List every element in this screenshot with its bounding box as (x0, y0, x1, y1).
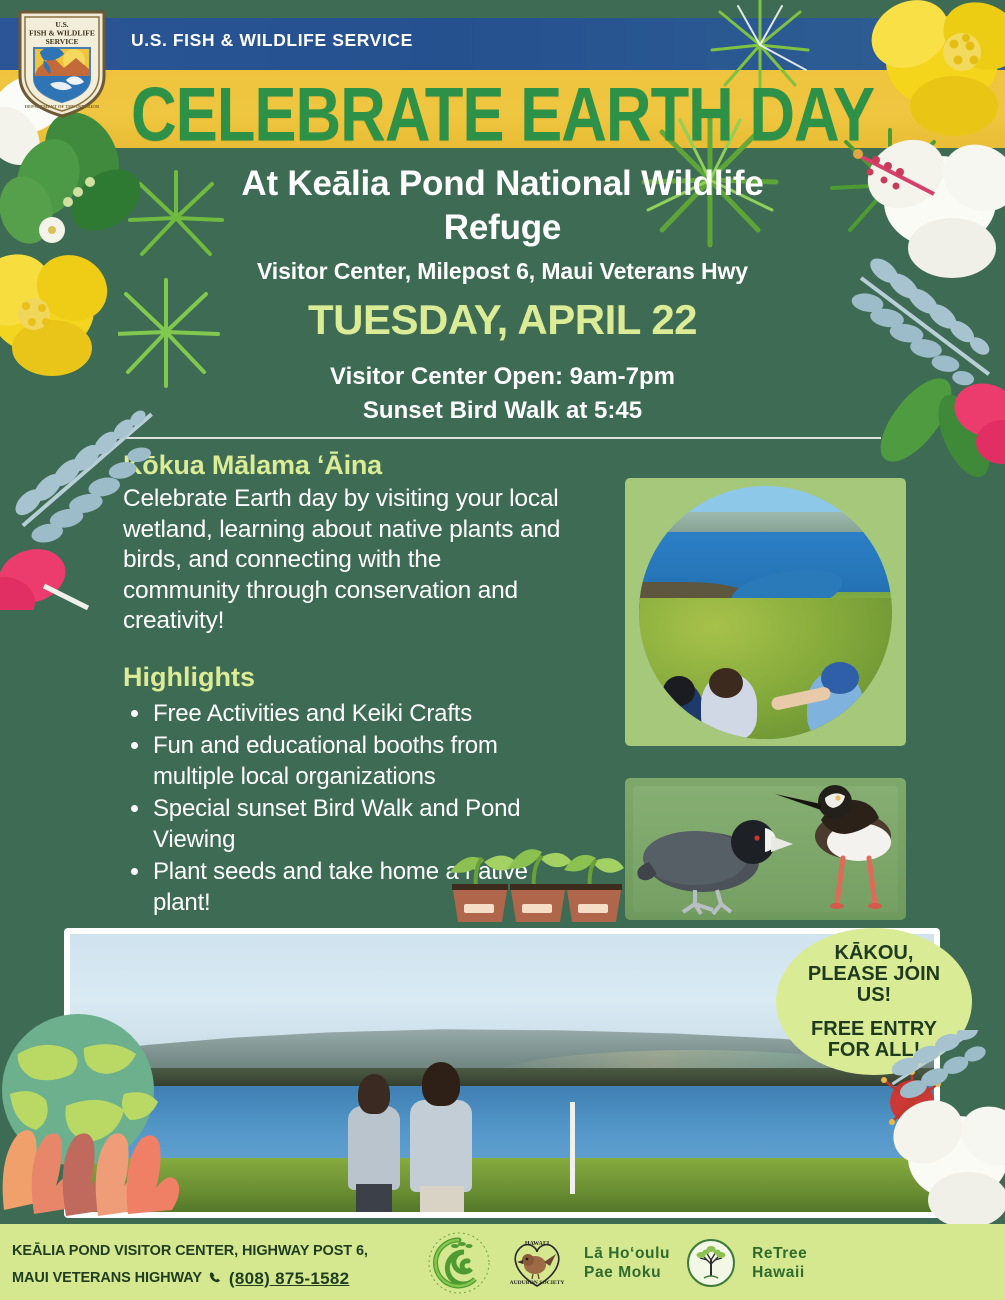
earth-day-poster: U.S. FISH & WILDLIFE SERVICE CELEBRATE E… (0, 0, 1005, 1300)
hands-holding-globe-illustration (0, 1002, 180, 1222)
highlights-heading: Highlights (123, 662, 255, 693)
badge-line-1: KĀKOU, PLEASE JOIN US! (808, 943, 940, 1006)
native-birds-photo-panel (625, 778, 906, 920)
footer-phone-row: MAUI VETERANS HIGHWAY (808) 875-1582 (12, 1265, 412, 1292)
hawaiian-coot-and-stilt-photo (625, 766, 906, 926)
svg-text:AUDUBON SOCIETY: AUDUBON SOCIETY (510, 1280, 565, 1286)
kokua-heading: Kōkua Mālama ʻĀina (123, 450, 382, 481)
list-item-label: Fun and educational booths from multiple… (153, 732, 498, 791)
event-date: TUESDAY, APRIL 22 (0, 296, 1005, 344)
list-item-label: Free Activities and Keiki Crafts (153, 700, 472, 727)
la-hooulu-pae-moku-label: Lā Hoʻoulu Pae Moku (584, 1244, 670, 1282)
event-hours: Visitor Center Open: 9am-7pm Sunset Bird… (0, 360, 1005, 428)
venue-heading: At Keālia Pond National Wildlife Refuge (0, 162, 1005, 250)
venue-line-1: At Keālia Pond National Wildlife (241, 164, 763, 203)
usfws-shield-logo: U.S. FISH & WILDLIFE SERVICE DEPARTMENT … (14, 6, 110, 118)
list-item: Free Activities and Keiki Crafts (125, 698, 570, 730)
pink-hibiscus-flower (0, 541, 88, 610)
keiki-wetland-photo-panel (625, 478, 906, 746)
partner-logos: HAWAI'I AUDUBON SOCIETY Lā Hoʻoulu Pae M… (428, 1230, 807, 1296)
svg-text:HAWAI'I: HAWAI'I (525, 1241, 550, 1247)
badge-line-2: FREE ENTRY FOR ALL! (811, 1019, 937, 1061)
bullet-icon (131, 805, 138, 812)
seedling-pots-illustration (440, 828, 626, 926)
svg-text:DEPARTMENT OF THE INTERIOR: DEPARTMENT OF THE INTERIOR (25, 104, 100, 109)
hours-line-1: Visitor Center Open: 9am-7pm (330, 363, 675, 390)
retree-hawaii-label: ReTree Hawaii (752, 1244, 807, 1282)
hawaii-audubon-society-logo: HAWAI'I AUDUBON SOCIETY (506, 1232, 568, 1294)
bullet-icon (131, 742, 138, 749)
section-divider (124, 437, 881, 439)
list-item: Fun and educational booths from multiple… (125, 730, 570, 793)
footer-address-line-2: MAUI VETERANS HIGHWAY (12, 1265, 202, 1292)
free-entry-badge: KĀKOU, PLEASE JOIN US! FREE ENTRY FOR AL… (776, 928, 972, 1075)
keiki-observing-wetland-photo (639, 486, 892, 739)
restoration-sustainability-fern-logo (428, 1232, 490, 1294)
page-title: CELEBRATE EARTH DAY (0, 72, 1005, 159)
phone-icon (208, 1271, 223, 1286)
footer-address-line-1: KEĀLIA POND VISITOR CENTER, HIGHWAY POST… (12, 1238, 412, 1265)
svg-text:SERVICE: SERVICE (45, 37, 78, 46)
agency-name: U.S. FISH & WILDLIFE SERVICE (131, 30, 413, 51)
footer-phone-number[interactable]: (808) 875-1582 (229, 1265, 349, 1292)
bullet-icon (131, 710, 138, 717)
footer-address: KEĀLIA POND VISITOR CENTER, HIGHWAY POST… (12, 1238, 412, 1292)
retree-hawaii-logo (686, 1238, 736, 1288)
address-line: Visitor Center, Milepost 6, Maui Veteran… (0, 258, 1005, 285)
kokua-body-text: Celebrate Earth day by visiting your loc… (123, 484, 563, 637)
footer-bar: KEĀLIA POND VISITOR CENTER, HIGHWAY POST… (0, 1224, 1005, 1300)
venue-line-2: Refuge (444, 208, 561, 247)
hours-line-2: Sunset Bird Walk at 5:45 (363, 397, 642, 424)
bullet-icon (131, 868, 138, 875)
